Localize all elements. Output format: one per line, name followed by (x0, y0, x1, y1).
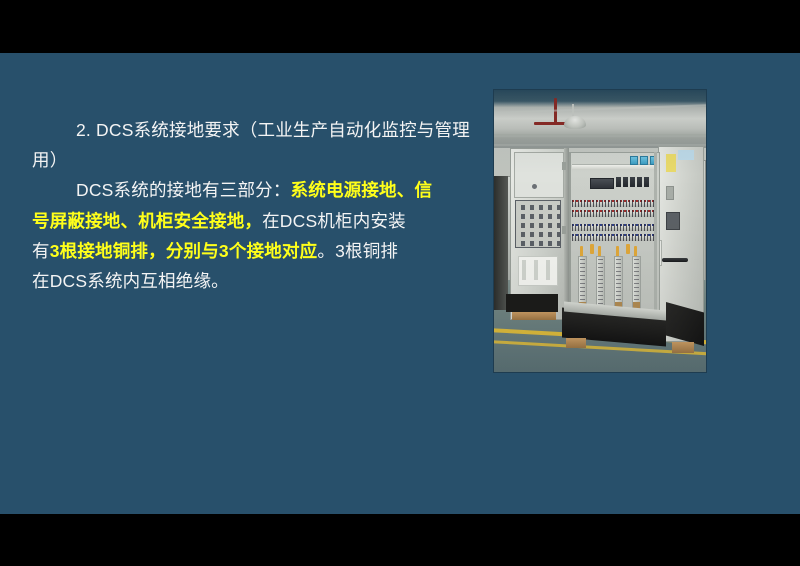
text-segment-highlight: 3根接地铜排，分别与3个接地对应 (50, 241, 318, 261)
text-segment: 2. DCS系统接地要求（工业生产自动化监控与管理 (76, 120, 470, 140)
text-line-body-4: 在DCS系统内互相绝缘。 (32, 266, 477, 296)
text-segment: 在DCS系统内互相绝缘。 (32, 271, 229, 291)
text-segment-highlight: 系统电源接地、信 (291, 180, 433, 200)
slide-viewer: 2. DCS系统接地要求（工业生产自动化监控与管理 用） DCS系统的接地有三部… (0, 0, 800, 566)
text-line-body-3: 有3根接地铜排，分别与3个接地对应。3根铜排 (32, 236, 477, 266)
text-segment-highlight: 号屏蔽接地、机柜安全接地， (32, 211, 262, 231)
text-line-heading: 2. DCS系统接地要求（工业生产自动化监控与管理 (32, 115, 477, 145)
dcs-control-cabinet-photo (494, 90, 706, 372)
photo-grade-overlay (494, 90, 706, 372)
text-segment: 。3根铜排 (317, 241, 398, 261)
letterbox-bottom (0, 514, 800, 566)
slide-canvas: 2. DCS系统接地要求（工业生产自动化监控与管理 用） DCS系统的接地有三部… (0, 53, 800, 514)
text-segment: DCS系统的接地有三部分： (76, 180, 291, 200)
text-segment: 有 (32, 241, 50, 261)
text-line-body-2: 号屏蔽接地、机柜安全接地，在DCS机柜内安装 (32, 206, 477, 236)
text-line-heading-continued: 用） (32, 145, 477, 175)
slide-text-block: 2. DCS系统接地要求（工业生产自动化监控与管理 用） DCS系统的接地有三部… (32, 115, 477, 296)
text-segment: 用） (32, 150, 67, 170)
text-line-body-1: DCS系统的接地有三部分：系统电源接地、信 (32, 175, 477, 205)
text-segment: 在DCS机柜内安装 (262, 211, 406, 231)
letterbox-top (0, 0, 800, 53)
